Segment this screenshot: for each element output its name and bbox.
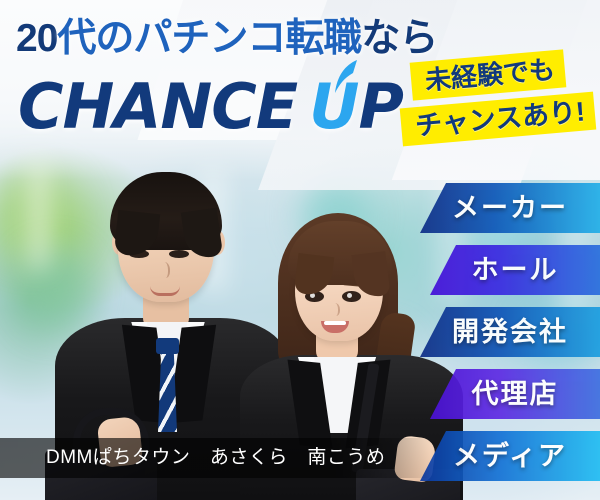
headline-catchcopy: 20代のパチンコ転職なら	[16, 16, 446, 62]
badge-line-1: 未経験でも	[410, 49, 567, 100]
brand-logo: CHANCEUP	[18, 72, 403, 142]
credit-text: DMMぱちタウン あさくら 南こうめ	[46, 438, 385, 478]
male-hair	[110, 172, 222, 250]
headline-age-prefix: 20	[16, 17, 57, 60]
logo-word-up: UP	[309, 72, 403, 142]
credit-bar: DMMぱちタウン あさくら 南こうめ	[0, 438, 430, 478]
category-button-development-company[interactable]: 開発会社	[420, 307, 600, 357]
female-eye-right	[342, 291, 361, 302]
highlight-badge: 未経験でも チャンスあり!	[395, 52, 600, 152]
male-eye-right	[169, 250, 189, 258]
category-button-hall[interactable]: ホール	[430, 245, 600, 295]
category-button-media[interactable]: メディア	[420, 431, 600, 481]
logo-word-chance: CHANCE	[18, 70, 297, 143]
category-button-maker[interactable]: メーカー	[420, 183, 600, 233]
male-necktie-knot	[156, 338, 179, 354]
logo-letter-u: U	[309, 70, 358, 143]
category-button-agency[interactable]: 代理店	[430, 369, 600, 419]
recruitment-banner[interactable]: 20代のパチンコ転職なら CHANCEUP 未経験でも チャンスあり! メーカー…	[0, 0, 600, 500]
female-nose	[330, 303, 340, 316]
male-nose	[159, 262, 170, 278]
badge-line-2: チャンスあり!	[400, 92, 597, 147]
headline-middle: 代のパチンコ転職	[57, 17, 361, 60]
